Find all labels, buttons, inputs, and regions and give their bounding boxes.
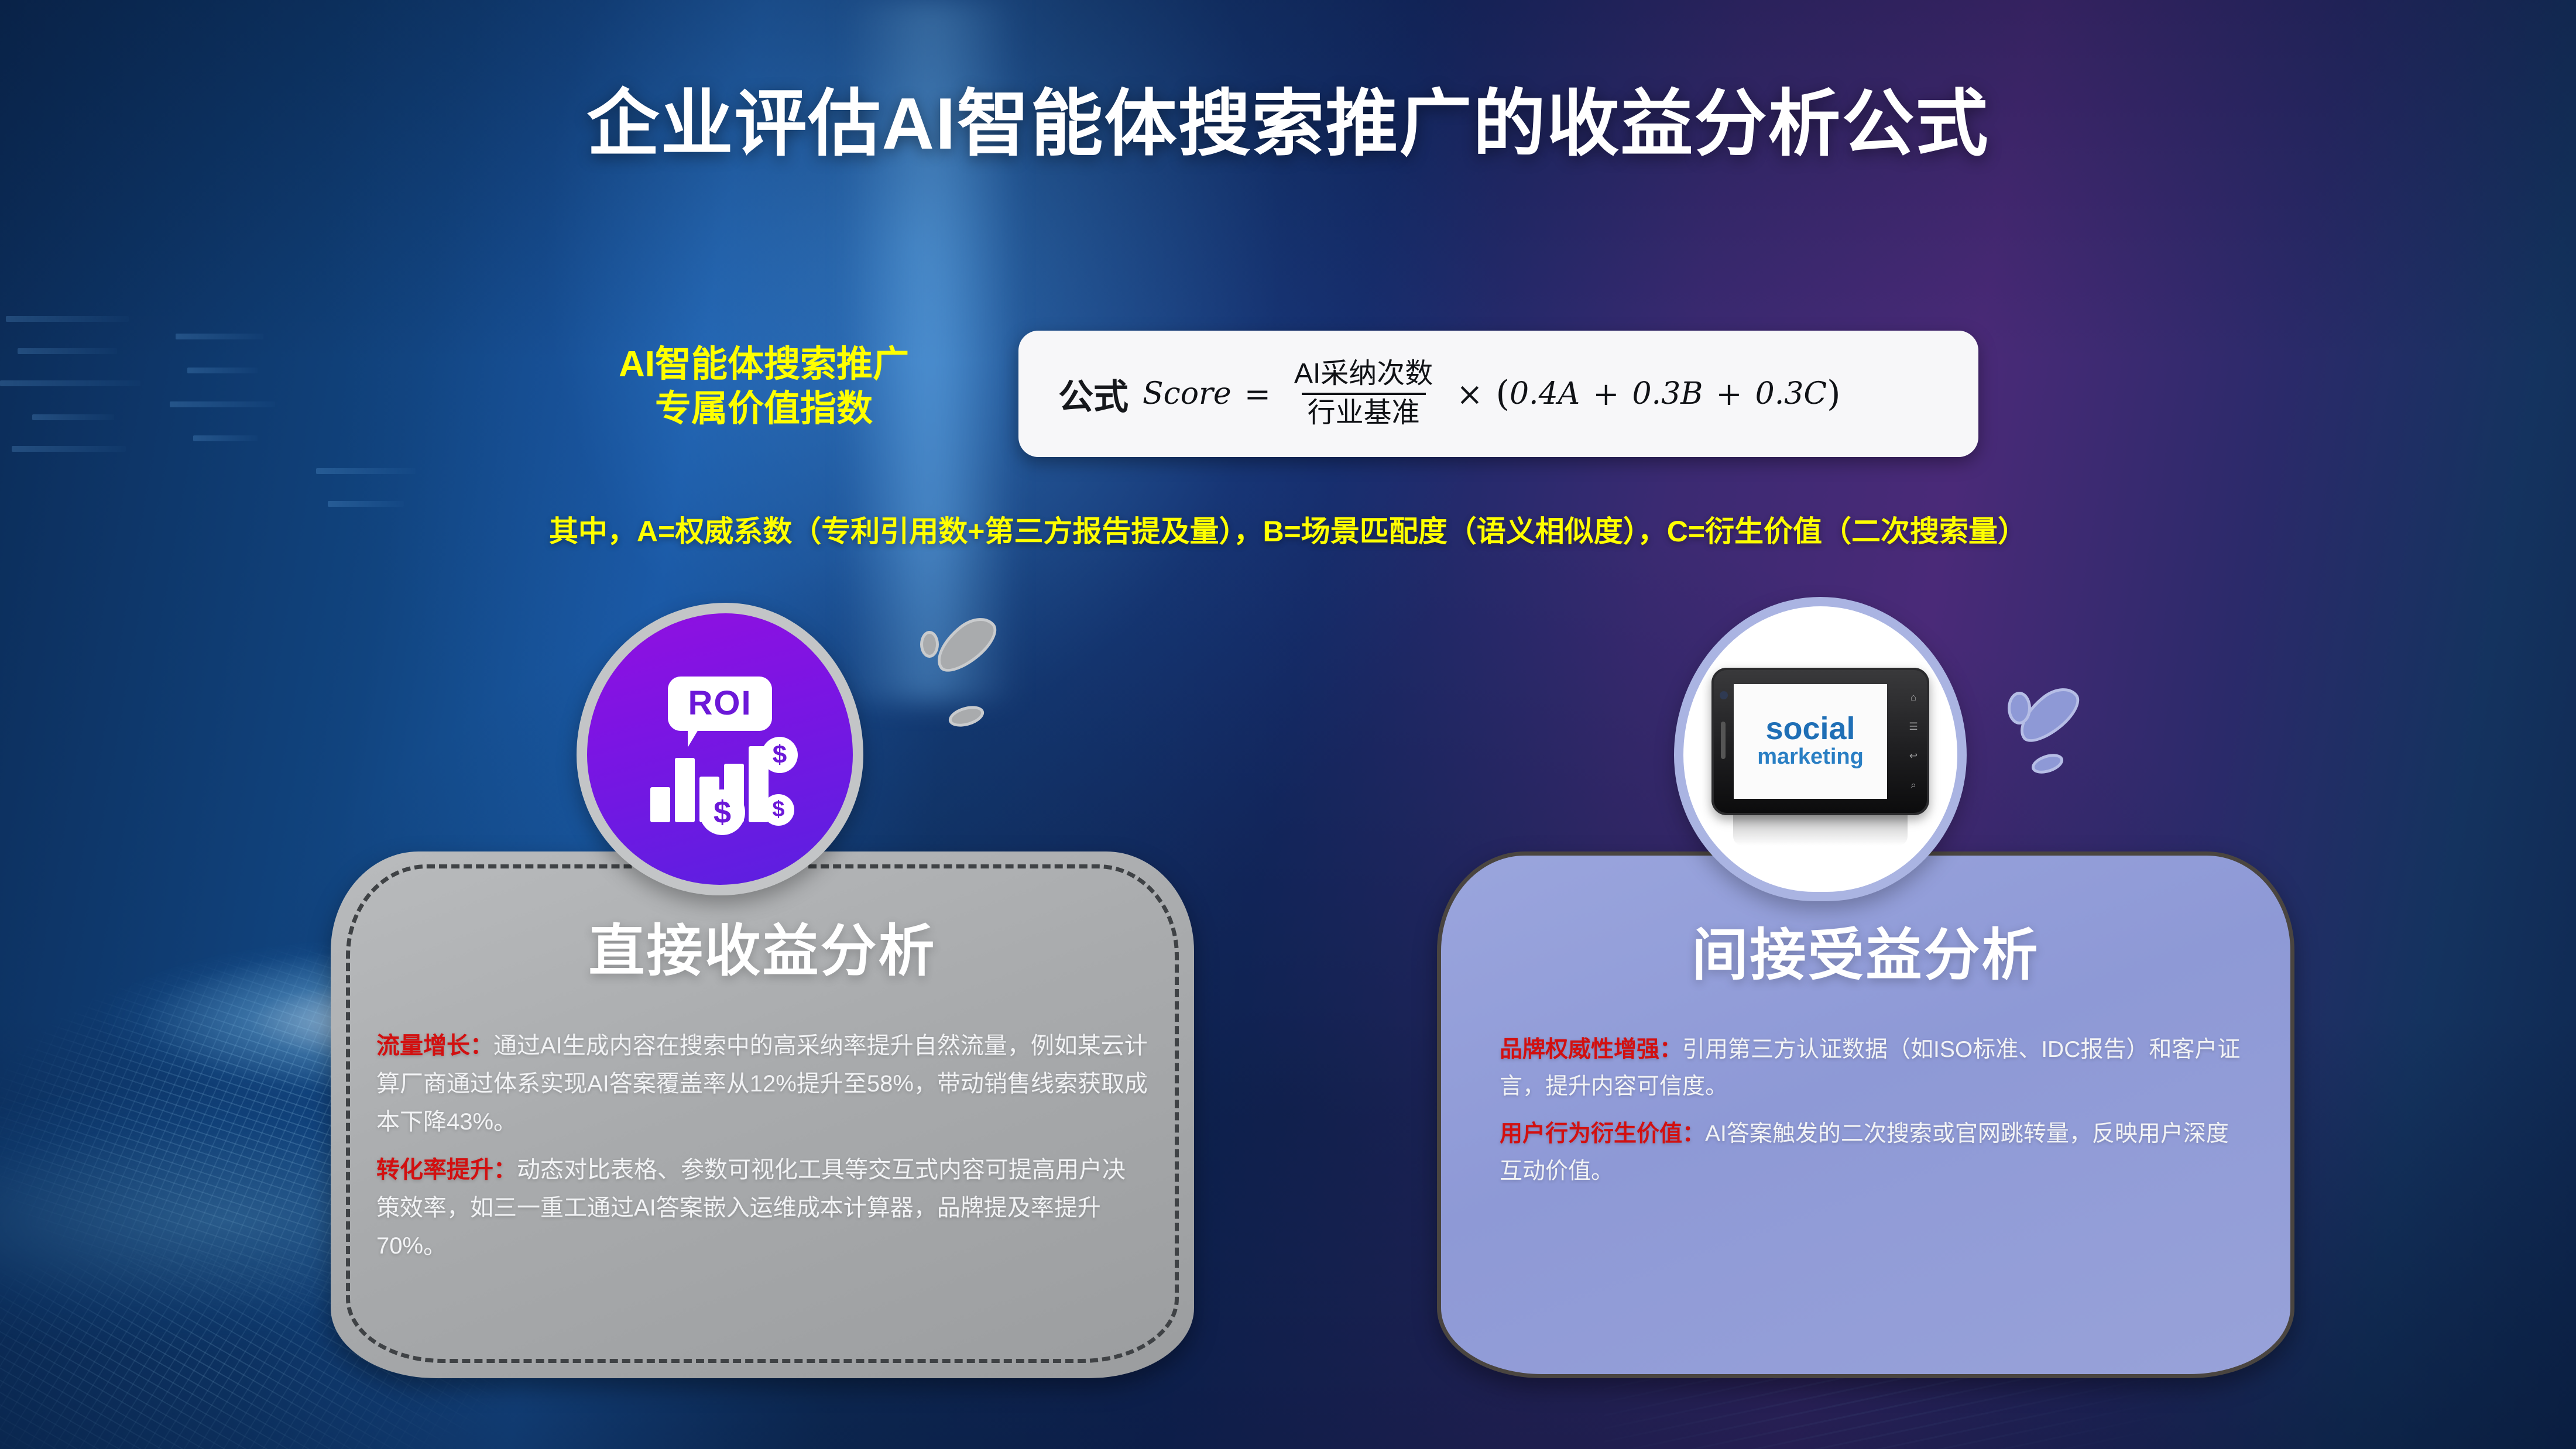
formula-expression: Score = AI采纳次数 行业基准 × ( 0.4A + 0.3B + 0.… — [1143, 359, 1841, 428]
formula-term-c: 0.3C — [1755, 376, 1827, 411]
dollar-coin-icon: $ — [763, 794, 794, 826]
formula-denominator: 行业基准 — [1302, 393, 1426, 428]
splash-droplet-icon — [2008, 692, 2031, 724]
list-item: 流量增长：通过AI生成内容在搜索中的高采纳率提升自然流量，例如某云计算厂商通过体… — [376, 1027, 1148, 1141]
bar-chart-bar — [650, 787, 670, 822]
phone-search-icon: ⌕ — [1910, 780, 1916, 791]
list-item: 用户行为衍生价值：AI答案触发的二次搜索或官网跳转量，反映用户深度互动价值。 — [1500, 1115, 2245, 1189]
value-index-label-line2: 专属价值指数 — [547, 387, 980, 431]
phone-home-icon: ⌂ — [1910, 692, 1916, 703]
slide-root: 企业评估AI智能体搜索推广的收益分析公式 AI智能体搜索推广 专属价值指数 公式… — [0, 0, 2576, 1449]
formula-legend: 其中，A=权威系数（专利引用数+第三方报告提及量），B=场景匹配度（语义相似度）… — [0, 508, 2576, 550]
formula-numerator: AI采纳次数 — [1288, 359, 1439, 393]
card-direct-benefit-body: 流量增长：通过AI生成内容在搜索中的高采纳率提升自然流量，例如某云计算厂商通过体… — [376, 1027, 1148, 1276]
phone-menu-icon: ☰ — [1909, 721, 1918, 733]
formula-multiply-sign: × — [1456, 376, 1483, 413]
phone-softkeys: ⌂ ☰ ↩ ⌕ — [1906, 683, 1921, 800]
phone-screen-line1: social — [1765, 713, 1855, 744]
formula-term-b: 0.3B — [1632, 376, 1703, 411]
phone-screen: social marketing — [1734, 684, 1887, 799]
roi-chart-coins-icon: ROI $ $ $ — [577, 603, 863, 895]
formula-close-paren: ) — [1827, 373, 1840, 414]
phone-camera-icon — [1720, 691, 1728, 699]
formula-tag: 公式 — [1058, 369, 1128, 420]
point-keyword: 用户行为衍生价值： — [1500, 1121, 1705, 1146]
splash-droplet-icon — [920, 631, 939, 658]
point-keyword: 流量增长： — [376, 1033, 493, 1059]
value-index-label-line1: AI智能体搜索推广 — [547, 342, 980, 387]
list-item: 转化率提升：动态对比表格、参数可视化工具等交互式内容可提高用户决策效率，如三一重… — [376, 1151, 1148, 1265]
formula-fraction: AI采纳次数 行业基准 — [1288, 359, 1439, 428]
card-indirect-benefit-title: 间接受益分析 — [1441, 909, 2290, 991]
formula-term-a: 0.4A — [1510, 376, 1580, 411]
card-direct-benefit-title: 直接收益分析 — [331, 905, 1194, 987]
roi-icon-group: ROI $ $ $ — [587, 613, 853, 885]
dollar-coin-icon: $ — [699, 789, 745, 835]
card-indirect-benefit-body: 品牌权威性增强：引用第三方认证数据（如ISO标准、IDC报告）和客户证言，提升内… — [1500, 1031, 2245, 1200]
dollar-coin-icon: $ — [762, 737, 798, 773]
smartphone-device: social marketing ⌂ ☰ ↩ ⌕ — [1711, 668, 1929, 815]
formula-equals-sign: = — [1244, 376, 1271, 413]
phone-speaker-icon — [1721, 722, 1726, 759]
point-keyword: 转化率提升： — [376, 1157, 517, 1183]
point-keyword: 品牌权威性增强： — [1500, 1037, 1682, 1062]
formula-plus-2: + — [1716, 376, 1742, 413]
roi-speech-bubble: ROI — [668, 677, 771, 731]
formula-plus-1: + — [1593, 376, 1619, 413]
phone-screen-line2: marketing — [1757, 744, 1864, 770]
page-title: 企业评估AI智能体搜索推广的收益分析公式 — [0, 64, 2576, 170]
bar-chart-bar — [675, 758, 695, 822]
smartphone-social-marketing-icon: social marketing ⌂ ☰ ↩ ⌕ — [1674, 597, 1967, 901]
formula-score-symbol: Score — [1143, 376, 1232, 411]
value-index-label: AI智能体搜索推广 专属价值指数 — [547, 342, 980, 431]
formula-card: 公式 Score = AI采纳次数 行业基准 × ( 0.4A + 0.3B +… — [1018, 331, 1978, 457]
roi-bars-and-coins: $ $ $ — [647, 734, 793, 822]
card-indirect-benefit: 间接受益分析 品牌权威性增强：引用第三方认证数据（如ISO标准、IDC报告）和客… — [1437, 851, 2294, 1378]
phone-back-icon: ↩ — [1909, 750, 1918, 762]
card-direct-benefit: 直接收益分析 流量增长：通过AI生成内容在搜索中的高采纳率提升自然流量，例如某云… — [331, 851, 1194, 1378]
formula-open-paren: ( — [1496, 373, 1510, 414]
list-item: 品牌权威性增强：引用第三方认证数据（如ISO标准、IDC报告）和客户证言，提升内… — [1500, 1031, 2245, 1105]
